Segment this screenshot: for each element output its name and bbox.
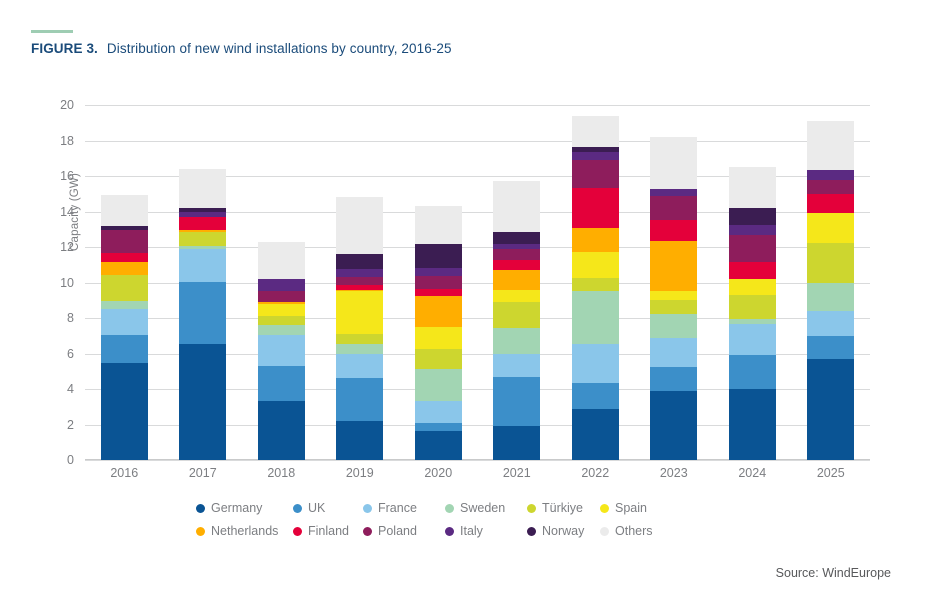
bar-segment[interactable] [807,180,854,194]
bar-segment[interactable] [258,335,305,366]
x-axis-label: 2022 [556,466,634,480]
bar-segment[interactable] [807,311,854,336]
plot-area: 02468101214161820 [85,105,870,460]
bar-segment[interactable] [101,262,148,274]
legend-item-others[interactable]: Others [600,524,660,538]
y-axis-tick: 14 [60,205,74,219]
bar-segment[interactable] [807,336,854,359]
bar-segment[interactable] [336,277,383,285]
bar-segment[interactable] [415,431,462,460]
bar-segment[interactable] [179,232,226,246]
bar-segment[interactable] [807,170,854,180]
bar-segment[interactable] [415,276,462,288]
bar-segment[interactable] [650,367,697,391]
bar-segment[interactable] [807,359,854,460]
bar-segment[interactable] [493,270,540,290]
bar-segment[interactable] [729,167,776,208]
gridline: 0 [85,460,870,461]
legend-label: Norway [542,524,584,538]
legend-item-trkiye[interactable]: Türkiye [527,501,600,515]
x-axis-label: 2023 [635,466,713,480]
bar-segment[interactable] [101,301,148,309]
bar-segment[interactable] [493,260,540,270]
legend-label: France [378,501,417,515]
bar-segment[interactable] [101,195,148,226]
y-axis-tick: 2 [67,418,74,432]
stacked-bar[interactable] [807,121,854,460]
bar-segment[interactable] [493,181,540,232]
bar-segment[interactable] [650,241,697,292]
bar-segment[interactable] [650,338,697,367]
bar-segment[interactable] [650,391,697,460]
legend-color-swatch-icon [445,504,454,513]
bar-series-group [85,105,870,460]
bar-segment[interactable] [336,254,383,269]
bar-segment[interactable] [493,354,540,378]
bar-segment[interactable] [415,423,462,431]
bar-segment[interactable] [493,426,540,460]
y-axis-tick: 18 [60,134,74,148]
x-axis-label: 2020 [399,466,477,480]
x-axis-label: 2024 [713,466,791,480]
legend-color-swatch-icon [527,504,536,513]
legend-item-spain[interactable]: Spain [600,501,660,515]
legend-label: Italy [460,524,483,538]
legend-item-finland[interactable]: Finland [293,524,363,538]
bar-segment[interactable] [258,325,305,335]
bar-segment[interactable] [572,116,619,147]
bar-segment[interactable] [101,363,148,460]
bar-segment[interactable] [572,152,619,160]
bar-segment[interactable] [650,314,697,337]
legend-item-italy[interactable]: Italy [445,524,527,538]
bar-segment[interactable] [807,121,854,170]
bar-segment[interactable] [336,334,383,344]
legend-label: Others [615,524,653,538]
bar-segment[interactable] [572,228,619,252]
legend-item-norway[interactable]: Norway [527,524,600,538]
legend-color-swatch-icon [363,504,372,513]
bar-segment[interactable] [415,401,462,422]
bar-segment[interactable] [101,309,148,335]
bar-segment[interactable] [493,290,540,302]
bar-group [321,105,399,460]
stacked-bar[interactable] [729,167,776,460]
legend-label: UK [308,501,325,515]
bar-segment[interactable] [650,300,697,314]
bar-group [164,105,242,460]
bar-segment[interactable] [729,279,776,295]
x-axis-label: 2018 [242,466,320,480]
bar-segment[interactable] [572,291,619,343]
bar-segment[interactable] [336,354,383,379]
y-axis-tick: 12 [60,240,74,254]
bar-segment[interactable] [729,208,776,225]
bar-segment[interactable] [572,383,619,410]
bar-segment[interactable] [179,249,226,282]
legend-item-germany[interactable]: Germany [196,501,293,515]
legend-color-swatch-icon [363,527,372,536]
bar-segment[interactable] [807,283,854,311]
legend-label: Sweden [460,501,505,515]
legend-item-uk[interactable]: UK [293,501,363,515]
bar-segment[interactable] [258,279,305,291]
bar-segment[interactable] [572,278,619,291]
bar-segment[interactable] [572,252,619,278]
bar-segment[interactable] [336,421,383,460]
x-axis-label: 2021 [478,466,556,480]
bar-segment[interactable] [729,225,776,235]
legend-color-swatch-icon [196,504,205,513]
bar-segment[interactable] [415,327,462,349]
figure-root: FIGURE 3. Distribution of new wind insta… [0,0,935,612]
bar-group [635,105,713,460]
stacked-bar[interactable] [493,181,540,461]
bar-segment[interactable] [101,253,148,262]
bar-segment[interactable] [415,244,462,269]
bar-segment[interactable] [336,197,383,254]
y-axis-tick: 10 [60,276,74,290]
bar-segment[interactable] [807,213,854,243]
bar-segment[interactable] [179,217,226,230]
bar-segment[interactable] [415,369,462,402]
bar-group [556,105,634,460]
stacked-bar[interactable] [258,242,305,460]
source-note: Source: WindEurope [776,566,891,580]
bar-segment[interactable] [179,344,226,460]
bar-segment[interactable] [572,344,619,383]
legend-color-swatch-icon [293,527,302,536]
bar-group [85,105,163,460]
y-axis-tick: 20 [60,98,74,112]
bar-segment[interactable] [336,378,383,421]
y-axis-tick: 0 [67,453,74,467]
bar-segment[interactable] [415,296,462,327]
bar-group [242,105,320,460]
legend-color-swatch-icon [600,504,609,513]
bar-segment[interactable] [572,409,619,460]
legend-color-swatch-icon [196,527,205,536]
stacked-bar[interactable] [572,116,619,460]
legend-color-swatch-icon [527,527,536,536]
bar-segment[interactable] [101,335,148,363]
x-axis-label: 2025 [792,466,870,480]
bar-segment[interactable] [729,355,776,389]
stacked-bar[interactable] [179,169,226,460]
bar-segment[interactable] [729,295,776,319]
bar-segment[interactable] [415,289,462,296]
bar-segment[interactable] [493,302,540,328]
stacked-bar[interactable] [415,206,462,460]
chart-legend: GermanyUKFranceSwedenTürkiyeSpainNetherl… [196,501,756,538]
x-axis-label: 2019 [321,466,399,480]
bar-segment[interactable] [415,268,462,276]
bar-segment[interactable] [258,291,305,303]
legend-label: Finland [308,524,349,538]
bar-segment[interactable] [179,169,226,208]
stacked-bar[interactable] [650,137,697,460]
legend-label: Germany [211,501,262,515]
bar-segment[interactable] [729,324,776,355]
bar-segment[interactable] [729,235,776,263]
legend-label: Spain [615,501,647,515]
bar-segment[interactable] [807,243,854,282]
legend-color-swatch-icon [445,527,454,536]
bar-segment[interactable] [807,194,854,214]
bar-group [478,105,556,460]
bar-segment[interactable] [258,366,305,401]
legend-item-poland[interactable]: Poland [363,524,445,538]
bar-segment[interactable] [729,262,776,279]
x-axis-label: 2017 [164,466,242,480]
bar-segment[interactable] [650,196,697,221]
bar-segment[interactable] [101,230,148,253]
y-axis-tick: 8 [67,311,74,325]
bar-segment[interactable] [572,188,619,228]
y-axis-tick: 16 [60,169,74,183]
bar-segment[interactable] [493,249,540,261]
bar-segment[interactable] [336,291,383,334]
bar-segment[interactable] [258,304,305,316]
bar-segment[interactable] [650,291,697,300]
legend-item-france[interactable]: France [363,501,445,515]
bar-segment[interactable] [258,401,305,460]
bar-segment[interactable] [572,160,619,188]
legend-color-swatch-icon [293,504,302,513]
bar-segment[interactable] [415,206,462,243]
bar-segment[interactable] [179,282,226,344]
bar-segment[interactable] [336,344,383,354]
bar-segment[interactable] [493,377,540,426]
legend-item-netherlands[interactable]: Netherlands [196,524,293,538]
stacked-bar[interactable] [336,197,383,460]
bar-segment[interactable] [336,269,383,277]
bar-group [399,105,477,460]
legend-label: Poland [378,524,417,538]
bar-segment[interactable] [729,389,776,460]
legend-item-sweden[interactable]: Sweden [445,501,527,515]
stacked-bar[interactable] [101,195,148,460]
bar-segment[interactable] [415,349,462,369]
bar-segment[interactable] [258,242,305,279]
y-axis-tick: 4 [67,382,74,396]
y-axis-tick: 6 [67,347,74,361]
legend-label: Türkiye [542,501,583,515]
bar-group [713,105,791,460]
legend-color-swatch-icon [600,527,609,536]
bar-segment[interactable] [650,137,697,188]
x-axis-label: 2016 [85,466,163,480]
bar-segment[interactable] [258,316,305,325]
legend-label: Netherlands [211,524,278,538]
bar-segment[interactable] [101,275,148,302]
bar-group [792,105,870,460]
bar-segment[interactable] [493,232,540,244]
bar-segment[interactable] [493,328,540,354]
bar-segment[interactable] [650,220,697,240]
bar-segment[interactable] [650,189,697,196]
x-axis-labels: 2016201720182019202020212022202320242025 [85,466,870,480]
